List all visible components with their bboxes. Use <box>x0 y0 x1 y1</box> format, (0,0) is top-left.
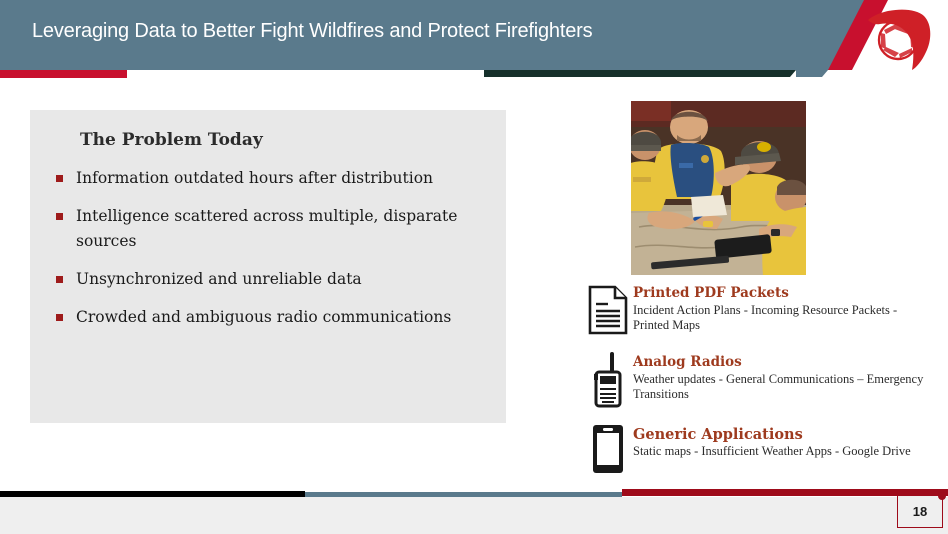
list-item: Intelligence scattered across multiple, … <box>56 204 480 254</box>
bullet-text: Information outdated hours after distrib… <box>76 166 433 191</box>
slide-footer <box>0 497 948 534</box>
list-item: Information outdated hours after distrib… <box>56 166 480 191</box>
footer-blue-bar <box>305 492 622 497</box>
source-body: Printed PDF Packets Incident Action Plan… <box>633 283 933 333</box>
problem-panel-heading: The Problem Today <box>80 130 480 150</box>
source-description: Incident Action Plans - Incoming Resourc… <box>633 303 933 333</box>
square-bullet-icon <box>56 314 63 321</box>
footer-red-bar <box>622 489 948 496</box>
problem-panel: The Problem Today Information outdated h… <box>30 110 506 423</box>
list-item: Unsynchronized and unreliable data <box>56 267 480 292</box>
footer-black-bar <box>0 491 305 497</box>
list-item: Analog Radios Weather updates - General … <box>583 348 933 408</box>
header-accent-blue-bar <box>796 70 828 77</box>
slide-canvas: Leveraging Data to Better Fight Wildfire… <box>0 0 948 534</box>
source-title: Printed PDF Packets <box>633 285 933 302</box>
bullet-text: Unsynchronized and unreliable data <box>76 267 362 292</box>
aperture-eye-logo-icon <box>862 6 934 72</box>
list-item: Generic Applications Static maps - Insuf… <box>583 421 933 475</box>
header-accent-dark-bar <box>484 70 796 77</box>
header-accent-red-bar <box>0 70 127 78</box>
page-number-badge: 18 <box>897 496 943 528</box>
square-bullet-icon <box>56 276 63 283</box>
bullet-text: Crowded and ambiguous radio communicatio… <box>76 305 451 330</box>
source-description: Static maps - Insufficient Weather Apps … <box>633 444 933 459</box>
source-title: Generic Applications <box>633 426 933 443</box>
document-icon <box>583 283 633 335</box>
source-title: Analog Radios <box>633 354 933 371</box>
bullet-text: Intelligence scattered across multiple, … <box>76 204 458 254</box>
square-bullet-icon <box>56 213 63 220</box>
slide-title: Leveraging Data to Better Fight Wildfire… <box>32 20 752 43</box>
page-marker-dot-icon <box>938 492 946 500</box>
smartphone-icon <box>583 421 633 475</box>
walkie-talkie-icon <box>583 348 633 408</box>
information-sources-list: Printed PDF Packets Incident Action Plan… <box>583 283 933 488</box>
source-description: Weather updates - General Communications… <box>633 372 933 402</box>
firefighters-photo <box>631 101 806 275</box>
page-number-label: 18 <box>913 504 927 519</box>
source-body: Analog Radios Weather updates - General … <box>633 348 933 402</box>
list-item: Crowded and ambiguous radio communicatio… <box>56 305 480 330</box>
square-bullet-icon <box>56 175 63 182</box>
source-body: Generic Applications Static maps - Insuf… <box>633 421 933 459</box>
list-item: Printed PDF Packets Incident Action Plan… <box>583 283 933 335</box>
